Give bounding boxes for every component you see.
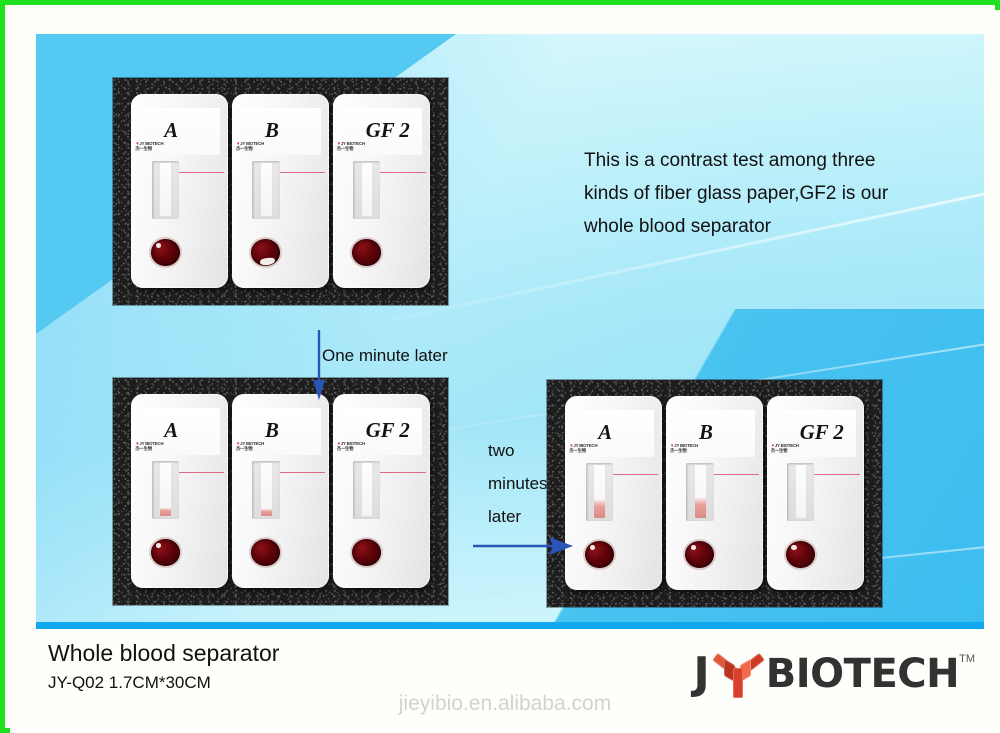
blood-drop-highlight bbox=[691, 545, 696, 550]
test-cassette: ▼JY BIOTECH杰一生物A bbox=[131, 394, 228, 588]
cassette-brand-mark-icon: ▼JY BIOTECH杰一生物 bbox=[337, 441, 365, 451]
poster-inner: ▼JY BIOTECH杰一生物A▼JY BIOTECH杰一生物B▼JY BIOT… bbox=[10, 10, 1000, 733]
test-cassette: ▼JY BIOTECH杰一生物GF 2 bbox=[767, 396, 864, 590]
cassette-brand-mark-icon: ▼JY BIOTECH杰一生物 bbox=[337, 141, 365, 151]
sample-well-blood-drop bbox=[352, 239, 381, 266]
test-strip bbox=[362, 463, 373, 515]
photo-two-minutes: ▼JY BIOTECH杰一生物A▼JY BIOTECH杰一生物B▼JY BIOT… bbox=[547, 380, 882, 607]
label-one-minute-later: One minute later bbox=[322, 346, 448, 366]
sample-well-blood-drop bbox=[786, 541, 815, 568]
blood-bleed-indicator bbox=[160, 508, 171, 515]
test-strip bbox=[160, 163, 171, 215]
test-cassette: ▼JY BIOTECH杰一生物B bbox=[232, 94, 329, 288]
cassette-brand-mark-icon: ▼JY BIOTECH杰一生物 bbox=[135, 141, 163, 151]
sample-well-blood-drop bbox=[251, 539, 280, 566]
cassette-handwritten-label: GF 2 bbox=[800, 423, 844, 444]
cassette-handwritten-label: B bbox=[265, 421, 279, 442]
cassette-handwritten-label: B bbox=[265, 121, 279, 142]
cassette-brand-mark-icon: ▼JY BIOTECH杰一生物 bbox=[135, 441, 163, 451]
cassette-brand-mark-icon: ▼JY BIOTECH杰一生物 bbox=[771, 443, 799, 453]
site-watermark: jieyibio.en.alibaba.com bbox=[15, 692, 995, 716]
blood-bleed-indicator bbox=[261, 509, 272, 515]
cassette-handwritten-label: A bbox=[164, 421, 178, 442]
blood-bleed-indicator bbox=[594, 500, 605, 518]
blood-drop-smear bbox=[260, 257, 276, 266]
cassette-handwritten-label: GF 2 bbox=[366, 121, 410, 142]
cassette-handwritten-label: A bbox=[164, 121, 178, 142]
cassette-brand-mark-icon: ▼JY BIOTECH杰一生物 bbox=[569, 443, 597, 453]
sample-well-blood-drop bbox=[585, 541, 614, 568]
cassette-handwritten-label: A bbox=[598, 423, 612, 444]
test-cassette: ▼JY BIOTECH杰一生物GF 2 bbox=[333, 94, 430, 288]
sample-well-blood-drop bbox=[151, 239, 180, 266]
sample-well-blood-drop bbox=[685, 541, 714, 568]
cassette-brand-mark-icon: ▼JY BIOTECH杰一生物 bbox=[236, 141, 264, 151]
blood-drop-highlight bbox=[156, 243, 161, 248]
brand-word: BIOTECH bbox=[766, 654, 959, 694]
footer: Whole blood separator JY-Q02 1.7CM*30CM … bbox=[15, 629, 995, 728]
poster-frame: ▼JY BIOTECH杰一生物A▼JY BIOTECH杰一生物B▼JY BIOT… bbox=[0, 0, 1000, 733]
test-cassette: ▼JY BIOTECH杰一生物A bbox=[565, 396, 662, 590]
sample-well-blood-drop bbox=[251, 239, 280, 266]
blood-drop-highlight bbox=[156, 543, 161, 548]
photo-one-minute: ▼JY BIOTECH杰一生物A▼JY BIOTECH杰一生物B▼JY BIOT… bbox=[113, 378, 448, 605]
blood-bleed-indicator bbox=[695, 498, 706, 518]
test-cassette: ▼JY BIOTECH杰一生物B bbox=[666, 396, 763, 590]
brand-letter-j: J bbox=[693, 652, 709, 696]
description-text: This is a contrast test among three kind… bbox=[584, 144, 914, 243]
test-cassette: ▼JY BIOTECH杰一生物GF 2 bbox=[333, 394, 430, 588]
blood-drop-highlight bbox=[590, 545, 595, 550]
test-strip bbox=[362, 163, 373, 215]
test-strip bbox=[261, 463, 272, 515]
cassette-brand-mark-icon: ▼JY BIOTECH杰一生物 bbox=[236, 441, 264, 451]
test-cassette: ▼JY BIOTECH杰一生物A bbox=[131, 94, 228, 288]
label-two-minutes-later: two minutes later bbox=[488, 434, 568, 533]
cassette-handwritten-label: GF 2 bbox=[366, 421, 410, 442]
test-strip bbox=[796, 465, 807, 517]
sample-well-blood-drop bbox=[151, 539, 180, 566]
product-code: JY-Q02 1.7CM*30CM bbox=[48, 673, 211, 693]
arrow-right-two-minutes bbox=[473, 534, 573, 558]
cassette-handwritten-label: B bbox=[699, 423, 713, 444]
test-cassette: ▼JY BIOTECH杰一生物B bbox=[232, 394, 329, 588]
trademark-icon: TM bbox=[959, 653, 975, 665]
test-strip bbox=[261, 163, 272, 215]
product-title: Whole blood separator bbox=[48, 640, 279, 667]
blood-drop-highlight bbox=[791, 545, 796, 550]
image-stage: ▼JY BIOTECH杰一生物A▼JY BIOTECH杰一生物B▼JY BIOT… bbox=[36, 34, 984, 639]
cassette-brand-mark-icon: ▼JY BIOTECH杰一生物 bbox=[670, 443, 698, 453]
photo-initial: ▼JY BIOTECH杰一生物A▼JY BIOTECH杰一生物B▼JY BIOT… bbox=[113, 78, 448, 305]
sample-well-blood-drop bbox=[352, 539, 381, 566]
